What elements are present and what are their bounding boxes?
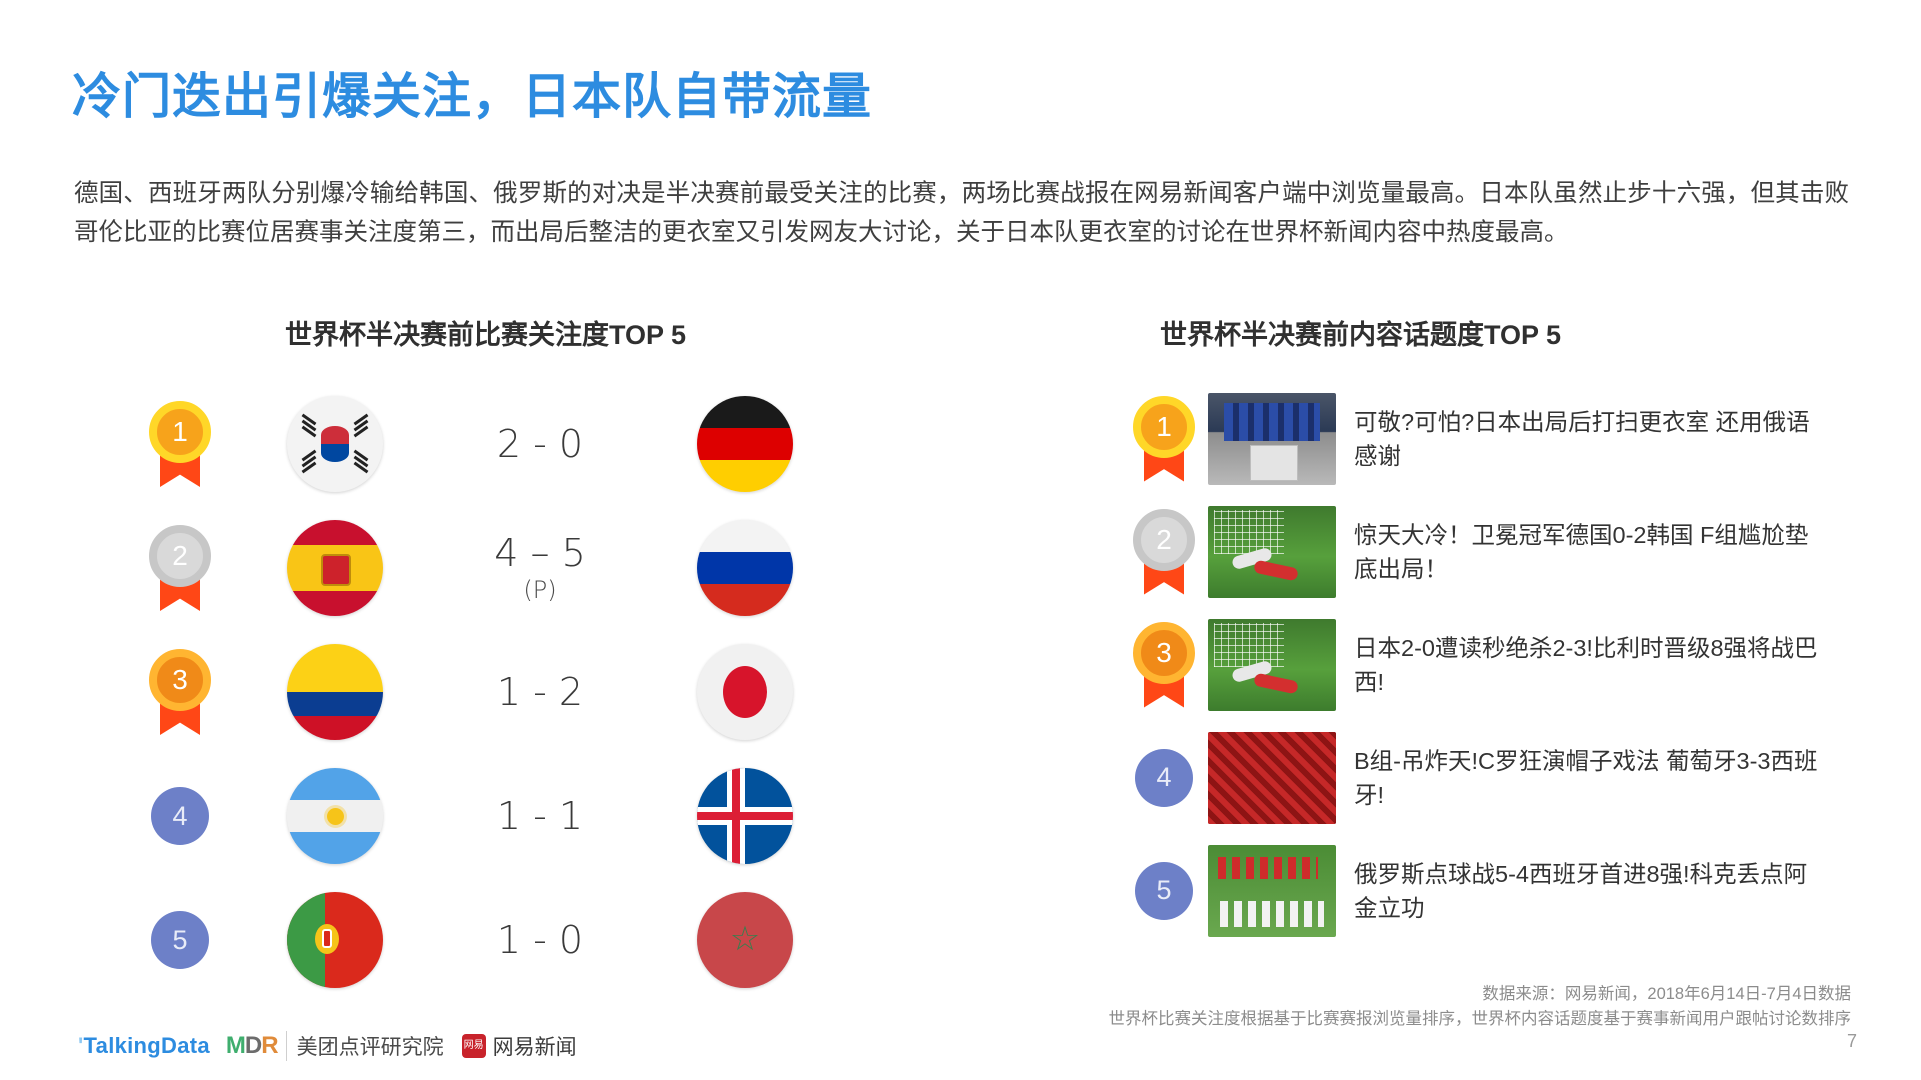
medal-rank-label: 2 (149, 525, 211, 587)
score-main: 2 - 0 (497, 422, 583, 466)
away-flag-cell (650, 520, 840, 616)
mdr-d: D (245, 1032, 261, 1059)
away-flag-cell (650, 768, 840, 864)
news-title[interactable]: 可敬?可怕?日本出局后打扫更衣室 还用俄语感谢 (1354, 405, 1824, 473)
slide-root: 冷门迭出引爆关注，日本队自带流量 德国、西班牙两队分别爆冷输给韩国、俄罗斯的对决… (0, 0, 1921, 1080)
list-item[interactable]: 1 可敬?可怕?日本出局后打扫更衣室 还用俄语感谢 (1120, 382, 1880, 495)
score-main: 1 - 0 (497, 918, 583, 962)
left-section-heading: 世界杯半决赛前比赛关注度TOP 5 (285, 313, 686, 352)
gold-medal-icon: 1 (1133, 396, 1195, 482)
match-score: 1 - 0 (430, 919, 650, 962)
page-number: 7 (1847, 1031, 1857, 1052)
medal-rank-label: 2 (1133, 509, 1195, 571)
home-flag-cell (240, 396, 430, 492)
mdr-m: M (226, 1032, 245, 1059)
flag-spain-icon (287, 520, 383, 616)
medal-rank-label: 3 (149, 649, 211, 711)
match-score: 2 - 0 (430, 423, 650, 466)
table-row[interactable]: 4 1 - 1 (120, 754, 920, 878)
match-score: 4 – 5 (P) (430, 532, 650, 603)
news-title[interactable]: B组-吊炸天!C罗狂演帽子戏法 葡萄牙3-3西班牙! (1354, 744, 1824, 812)
crowd-photo (1208, 732, 1336, 824)
rank-cell: 3 (120, 649, 240, 735)
locker-room-photo (1208, 393, 1336, 485)
netease-mark-icon: 网易 (462, 1034, 486, 1058)
table-row[interactable]: 3 1 - 2 (120, 630, 920, 754)
bronze-medal-icon: 3 (1133, 622, 1195, 708)
rank-cell: 5 (1120, 862, 1208, 920)
medal-rank-label: 1 (149, 401, 211, 463)
footer-logos: 'TalkingData MDR 美团点评研究院 网易 网易新闻 (78, 1031, 577, 1061)
flag-portugal-icon (287, 892, 383, 988)
mdr-logo: MDR (226, 1032, 278, 1060)
list-item[interactable]: 4 B组-吊炸天!C罗狂演帽子戏法 葡萄牙3-3西班牙! (1120, 721, 1880, 834)
home-flag-cell (240, 520, 430, 616)
players-on-pitch-photo (1208, 619, 1336, 711)
list-item[interactable]: 2 惊天大冷！卫冕冠军德国0-2韩国 F组尴尬垫底出局！ (1120, 495, 1880, 608)
news-ranking-list: 1 可敬?可怕?日本出局后打扫更衣室 还用俄语感谢 2 惊天大冷！卫冕冠军德国0… (1120, 382, 1880, 947)
away-flag-cell: ☆ (650, 892, 840, 988)
rank-cell: 4 (120, 787, 240, 845)
flag-russia-icon (697, 520, 793, 616)
score-note: (P) (430, 577, 650, 604)
rank-circle-icon: 5 (1135, 862, 1193, 920)
right-section-heading: 世界杯半决赛前内容话题度TOP 5 (1160, 313, 1561, 352)
home-flag-cell (240, 768, 430, 864)
flag-morocco-icon: ☆ (697, 892, 793, 988)
flag-iceland-icon (697, 768, 793, 864)
rank-cell: 2 (120, 525, 240, 611)
table-row[interactable]: 5 1 - 0 ☆ (120, 878, 920, 1002)
away-flag-cell (650, 396, 840, 492)
home-flag-cell (240, 644, 430, 740)
score-main: 1 - 2 (497, 670, 583, 714)
rank-cell: 1 (1120, 396, 1208, 482)
match-score: 1 - 2 (430, 671, 650, 714)
score-main: 1 - 1 (497, 794, 583, 838)
flag-colombia-icon (287, 644, 383, 740)
medal-rank-label: 1 (1133, 396, 1195, 458)
netease-news-label: 网易新闻 (493, 1031, 577, 1061)
talkingdata-label: TalkingData (84, 1033, 210, 1058)
list-item[interactable]: 3 日本2-0遭读秒绝杀2-3!比利时晋级8强将战巴西! (1120, 608, 1880, 721)
news-title[interactable]: 日本2-0遭读秒绝杀2-3!比利时晋级8强将战巴西! (1354, 631, 1824, 699)
talkingdata-logo: 'TalkingData (78, 1033, 210, 1059)
score-main: 4 – 5 (494, 531, 586, 575)
page-title: 冷门迭出引爆关注，日本队自带流量 (72, 57, 872, 128)
meituan-research-label: 美团点评研究院 (286, 1031, 444, 1061)
rank-cell: 4 (1120, 749, 1208, 807)
footnote-line-1: 数据来源：网易新闻，2018年6月14日-7月4日数据 (1109, 982, 1852, 1007)
bronze-medal-icon: 3 (149, 649, 211, 735)
silver-medal-icon: 2 (149, 525, 211, 611)
intro-paragraph: 德国、西班牙两队分别爆冷输给韩国、俄罗斯的对决是半决赛前最受关注的比赛，两场比赛… (74, 174, 1849, 252)
list-item[interactable]: 5 俄罗斯点球战5-4西班牙首进8强!科克丢点阿金立功 (1120, 834, 1880, 947)
rank-circle-icon: 4 (1135, 749, 1193, 807)
rank-cell: 1 (120, 401, 240, 487)
table-row[interactable]: 1 (120, 382, 920, 506)
away-flag-cell (650, 644, 840, 740)
footnote-line-2: 世界杯比赛关注度根据基于比赛赛报浏览量排序，世界杯内容话题度基于赛事新闻用户跟帖… (1109, 1007, 1852, 1032)
table-row[interactable]: 2 4 – 5 (P) (120, 506, 920, 630)
mdr-r: R (261, 1032, 277, 1059)
match-score: 1 - 1 (430, 795, 650, 838)
gold-medal-icon: 1 (149, 401, 211, 487)
home-flag-cell (240, 892, 430, 988)
flag-korea-icon (287, 396, 383, 492)
match-ranking-list: 1 (120, 382, 920, 1002)
goal-save-photo (1208, 506, 1336, 598)
footnote: 数据来源：网易新闻，2018年6月14日-7月4日数据 世界杯比赛关注度根据基于… (1109, 982, 1852, 1032)
flag-germany-icon (697, 396, 793, 492)
rank-circle-icon: 5 (151, 911, 209, 969)
rank-circle-icon: 4 (151, 787, 209, 845)
team-celebration-photo (1208, 845, 1336, 937)
flag-argentina-icon (287, 768, 383, 864)
silver-medal-icon: 2 (1133, 509, 1195, 595)
medal-rank-label: 3 (1133, 622, 1195, 684)
rank-cell: 3 (1120, 622, 1208, 708)
rank-cell: 5 (120, 911, 240, 969)
rank-cell: 2 (1120, 509, 1208, 595)
news-title[interactable]: 惊天大冷！卫冕冠军德国0-2韩国 F组尴尬垫底出局！ (1354, 518, 1824, 586)
news-title[interactable]: 俄罗斯点球战5-4西班牙首进8强!科克丢点阿金立功 (1354, 857, 1824, 925)
flag-japan-icon (697, 644, 793, 740)
